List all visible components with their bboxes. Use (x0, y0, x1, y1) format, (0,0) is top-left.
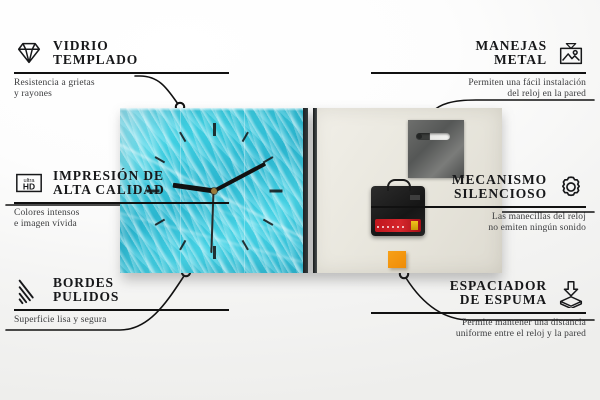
callout-rule (14, 72, 229, 74)
foam-spacer-icon (556, 278, 586, 308)
clock-side-edge (303, 108, 308, 273)
callout-manejas-metal: MANEJASMETAL Permiten una fácil instalac… (371, 38, 586, 101)
callout-title: MECANISMOSILENCIOSO (452, 173, 547, 202)
callout-desc: Superficie lisa y segura (14, 315, 229, 327)
callout-rule (371, 312, 586, 314)
glass-highlight (120, 108, 308, 111)
callout-desc: Permiten una fácil instalacióndel reloj … (371, 78, 586, 101)
ultra-hd-icon: ultra HD (14, 168, 44, 198)
callout-desc: Las manecillas del relojno emiten ningún… (371, 212, 586, 235)
clock-tick (270, 189, 283, 192)
infographic-stage: VIDRIOTEMPLADO Resistencia a grietasy ra… (0, 0, 600, 400)
callout-bordes-pulidos: BORDESPULIDOS Superficie lisa y segura (14, 275, 229, 326)
back-panel-edge (313, 108, 317, 273)
callout-rule (14, 309, 229, 311)
callout-title: MANEJASMETAL (475, 39, 547, 68)
callout-title: VIDRIOTEMPLADO (53, 39, 138, 68)
callout-rule (371, 72, 586, 74)
callout-rule (371, 206, 586, 208)
svg-text:HD: HD (23, 182, 35, 192)
callout-title: ESPACIADORDE ESPUMA (450, 279, 547, 308)
clock-tick (213, 246, 216, 259)
callout-desc: Colores intensose imagen vívida (14, 208, 229, 231)
picture-hanger-icon (556, 38, 586, 68)
callout-rule (14, 202, 229, 204)
clock-tick (213, 123, 216, 136)
hanger-hole (417, 134, 422, 139)
foam-spacer (388, 251, 406, 268)
callout-impresion-alta-calidad: ultra HD IMPRESIÓN DEALTA CALIDAD Colore… (14, 168, 229, 231)
diamond-icon (14, 38, 44, 68)
callout-desc: Permite mantener una distanciauniforme e… (371, 318, 586, 341)
callout-espaciador-espuma: ESPACIADORDE ESPUMA Permite mantener una… (371, 278, 586, 341)
polished-edges-icon (14, 275, 44, 305)
callout-vidrio-templado: VIDRIOTEMPLADO Resistencia a grietasy ra… (14, 38, 229, 101)
callout-title: BORDESPULIDOS (53, 276, 119, 305)
callout-title: IMPRESIÓN DEALTA CALIDAD (53, 169, 165, 198)
metal-hanger-plate (408, 120, 464, 178)
callout-mecanismo-silencioso: MECANISMOSILENCIOSO Las manecillas del r… (371, 172, 586, 235)
gear-icon (556, 172, 586, 202)
callout-desc: Resistencia a grietasy rayones (14, 78, 229, 101)
